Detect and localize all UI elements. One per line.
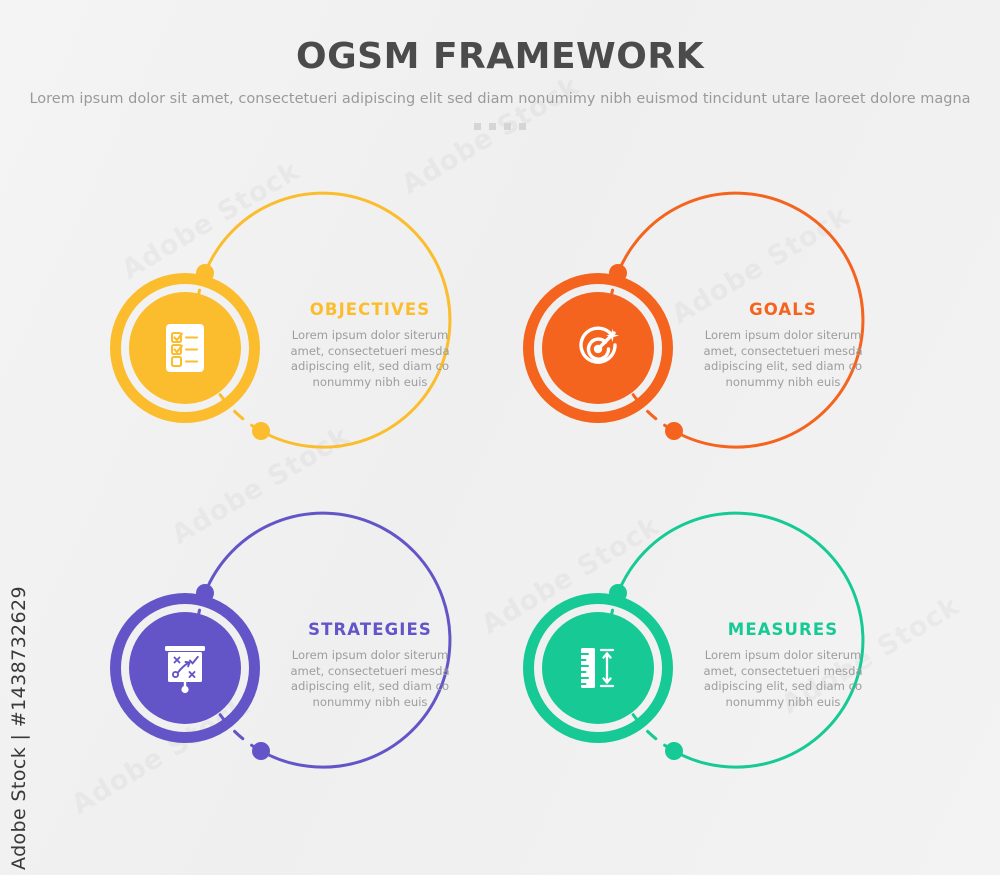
stock-id-watermark: Adobe Stock | #1438732629: [8, 586, 30, 870]
header: OGSM FRAMEWORK Lorem ipsum dolor sit ame…: [0, 36, 1000, 130]
infographic-canvas: Adobe Stock Adobe Stock Adobe Stock Adob…: [0, 0, 1000, 875]
block-label: MEASURES: [693, 620, 873, 639]
orbit-node-end: [252, 422, 270, 440]
dot: [474, 123, 481, 130]
icon-badge-goals[interactable]: [523, 273, 673, 423]
block-description: Lorem ipsum dolor siterum amet, consecte…: [280, 648, 460, 710]
block-goals[interactable]: GOALS Lorem ipsum dolor siterum amet, co…: [523, 185, 943, 515]
checklist-icon: [160, 322, 210, 374]
block-measures[interactable]: MEASURES Lorem ipsum dolor siterum amet,…: [523, 505, 943, 835]
copy-measures: MEASURES Lorem ipsum dolor siterum amet,…: [693, 620, 873, 710]
orbit-node-end: [665, 742, 683, 760]
icon-badge-objectives[interactable]: [110, 273, 260, 423]
block-description: Lorem ipsum dolor siterum amet, consecte…: [693, 648, 873, 710]
copy-strategies: STRATEGIES Lorem ipsum dolor siterum ame…: [280, 620, 460, 710]
block-description: Lorem ipsum dolor siterum amet, consecte…: [280, 328, 460, 390]
block-label: STRATEGIES: [280, 620, 460, 639]
ruler-icon: [573, 642, 623, 694]
badge-disc: [542, 612, 654, 724]
copy-goals: GOALS Lorem ipsum dolor siterum amet, co…: [693, 300, 873, 390]
orbit-node-end: [252, 742, 270, 760]
target-icon: [572, 322, 624, 374]
block-strategies[interactable]: STRATEGIES Lorem ipsum dolor siterum ame…: [110, 505, 530, 835]
badge-disc: [129, 612, 241, 724]
dot: [519, 123, 526, 130]
strategy-board-icon: [159, 641, 211, 695]
badge-disc: [129, 292, 241, 404]
dot: [489, 123, 496, 130]
icon-badge-measures[interactable]: [523, 593, 673, 743]
block-description: Lorem ipsum dolor siterum amet, consecte…: [693, 328, 873, 390]
copy-objectives: OBJECTIVES Lorem ipsum dolor siterum ame…: [280, 300, 460, 390]
dot: [504, 123, 511, 130]
block-objectives[interactable]: OBJECTIVES Lorem ipsum dolor siterum ame…: [110, 185, 530, 515]
icon-badge-strategies[interactable]: [110, 593, 260, 743]
block-label: OBJECTIVES: [280, 300, 460, 319]
block-label: GOALS: [693, 300, 873, 319]
page-subtitle: Lorem ipsum dolor sit amet, consectetuer…: [0, 89, 1000, 109]
badge-disc: [542, 292, 654, 404]
orbit-node-end: [665, 422, 683, 440]
decorative-dots: [0, 123, 1000, 130]
page-title: OGSM FRAMEWORK: [0, 36, 1000, 77]
